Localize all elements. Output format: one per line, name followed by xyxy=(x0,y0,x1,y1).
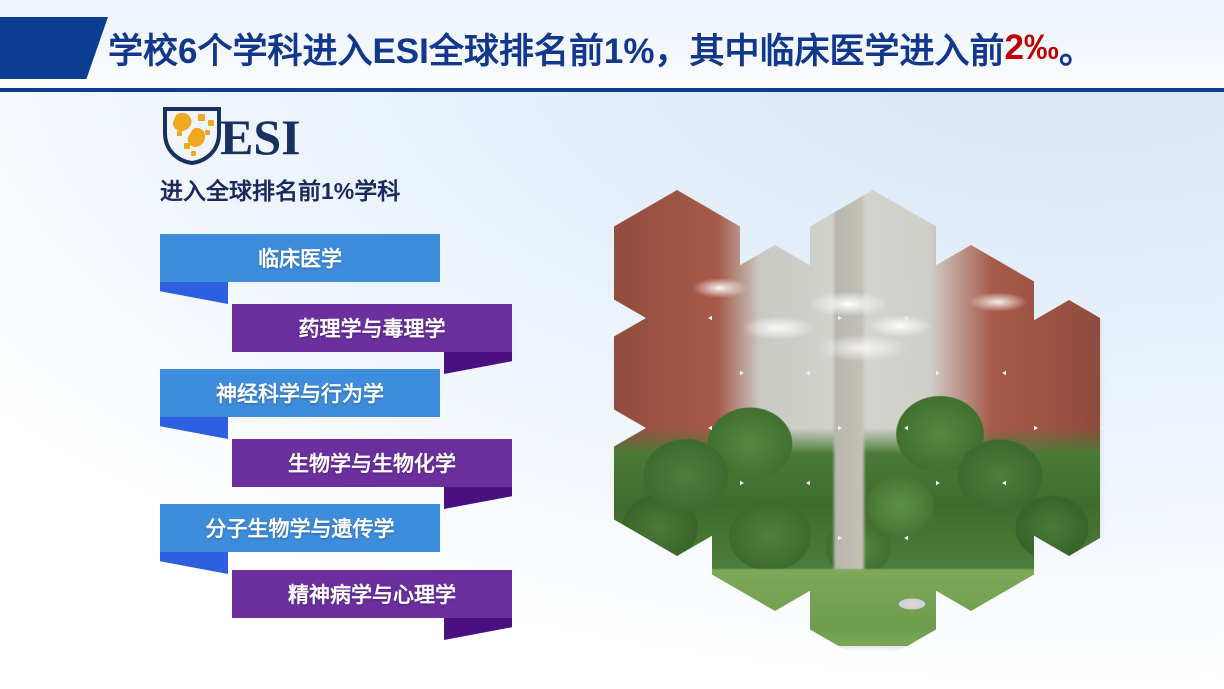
ribbon-fold-tail xyxy=(444,618,512,640)
discipline-ribbon-1[interactable]: 临床医学 xyxy=(160,234,440,282)
ribbon-fold-tail xyxy=(444,487,512,509)
page-title-main: 学校6个学科进入ESI全球排名前1%，其中临床医学进入前 xyxy=(108,23,1004,74)
slide-header: 学校6个学科进入ESI全球排名前1%，其中临床医学进入前2‰。 xyxy=(0,0,1224,92)
slide-root: 学校6个学科进入ESI全球排名前1%，其中临床医学进入前2‰。 xyxy=(0,0,1224,689)
discipline-label: 神经科学与行为学 xyxy=(216,378,384,408)
ribbon-fold-tail xyxy=(160,282,228,304)
page-title: 学校6个学科进入ESI全球排名前1%，其中临床医学进入前2‰。 xyxy=(108,16,1208,80)
discipline-ribbon-3[interactable]: 神经科学与行为学 xyxy=(160,369,440,417)
discipline-ribbon-2[interactable]: 药理学与毒理学 xyxy=(232,304,512,352)
ribbon-fold-tail xyxy=(444,352,512,374)
discipline-ribbon-4[interactable]: 生物学与生物化学 xyxy=(232,439,512,487)
campus-hex-mosaic xyxy=(600,176,1100,646)
page-title-tail: 。 xyxy=(1059,23,1094,74)
ribbon-fold-tail xyxy=(160,417,228,439)
esi-logo-svg: ESI xyxy=(160,105,330,167)
page-title-highlight: 2‰ xyxy=(1004,28,1058,68)
watermark: cbortx.com xyxy=(1126,666,1214,681)
discipline-label: 精神病学与心理学 xyxy=(288,579,456,609)
esi-logo-wordmark: ESI xyxy=(220,109,301,165)
discipline-label: 药理学与毒理学 xyxy=(299,313,446,343)
discipline-label: 临床医学 xyxy=(258,243,342,273)
discipline-ribbon-5[interactable]: 分子生物学与遗传学 xyxy=(160,504,440,552)
ribbon-fold-tail xyxy=(160,552,228,574)
esi-logo-shield-icon xyxy=(165,109,219,163)
discipline-ribbon-6[interactable]: 精神病学与心理学 xyxy=(232,570,512,618)
header-accent-shape xyxy=(0,17,108,79)
esi-logo: ESI xyxy=(160,105,330,167)
discipline-panel: ESI 进入全球排名前1%学科 临床医学 药理学与毒理学 神经科学与行为学 生物… xyxy=(0,92,560,689)
discipline-label: 生物学与生物化学 xyxy=(288,448,456,478)
discipline-label: 分子生物学与遗传学 xyxy=(206,513,395,543)
esi-subtitle: 进入全球排名前1%学科 xyxy=(160,172,400,206)
